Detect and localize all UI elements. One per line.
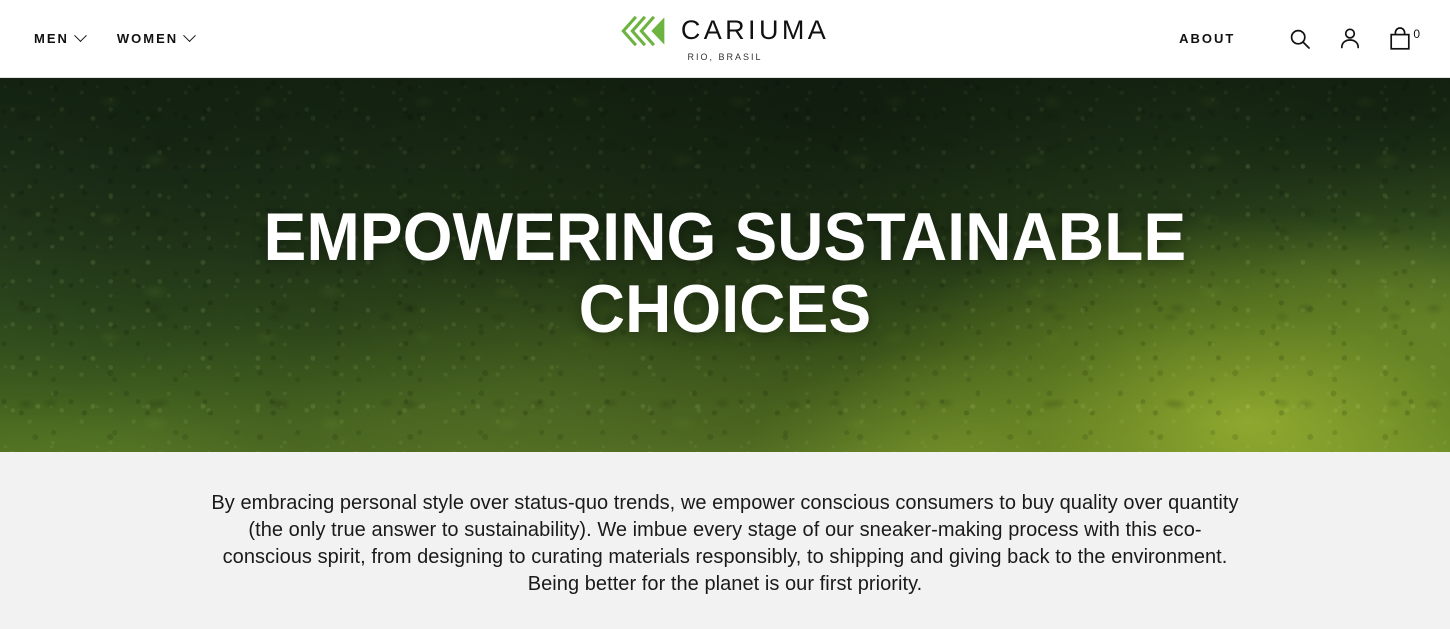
chevron-down-icon xyxy=(183,29,196,42)
account-button[interactable] xyxy=(1339,27,1361,50)
logo-row: CARIUMA xyxy=(621,16,829,46)
cart-count-badge: 0 xyxy=(1413,28,1420,40)
shopping-bag-icon xyxy=(1389,27,1411,51)
user-account-icon xyxy=(1339,27,1361,50)
nav-item-women-label: WOMEN xyxy=(117,32,178,45)
logo-tagline: RIO, BRASIL xyxy=(687,53,762,62)
hero-headline: EMPOWERING SUSTAINABLE CHOICES xyxy=(44,201,1407,345)
logo-wordmark: CARIUMA xyxy=(681,17,829,44)
cariuma-chevron-leaf-icon xyxy=(621,16,667,46)
nav-item-about[interactable]: ABOUT xyxy=(1179,32,1235,45)
chevron-down-icon xyxy=(74,29,87,42)
hero-banner: EMPOWERING SUSTAINABLE CHOICES xyxy=(0,78,1450,452)
nav-item-men-label: MEN xyxy=(34,32,69,45)
cart-button[interactable]: 0 xyxy=(1389,27,1420,51)
site-header: MEN WOMEN CARIUMA RIO, BRASIL ABOUT xyxy=(0,0,1450,78)
intro-section: By embracing personal style over status-… xyxy=(0,452,1450,629)
intro-paragraph: By embracing personal style over status-… xyxy=(210,490,1240,598)
nav-item-women[interactable]: WOMEN xyxy=(117,32,194,45)
logo-solid-arrow xyxy=(651,17,664,44)
site-logo[interactable]: CARIUMA RIO, BRASIL xyxy=(621,16,829,62)
search-button[interactable] xyxy=(1289,28,1311,50)
search-icon xyxy=(1289,28,1311,50)
nav-item-men[interactable]: MEN xyxy=(34,32,85,45)
primary-nav-right: ABOUT 0 xyxy=(727,27,1420,51)
